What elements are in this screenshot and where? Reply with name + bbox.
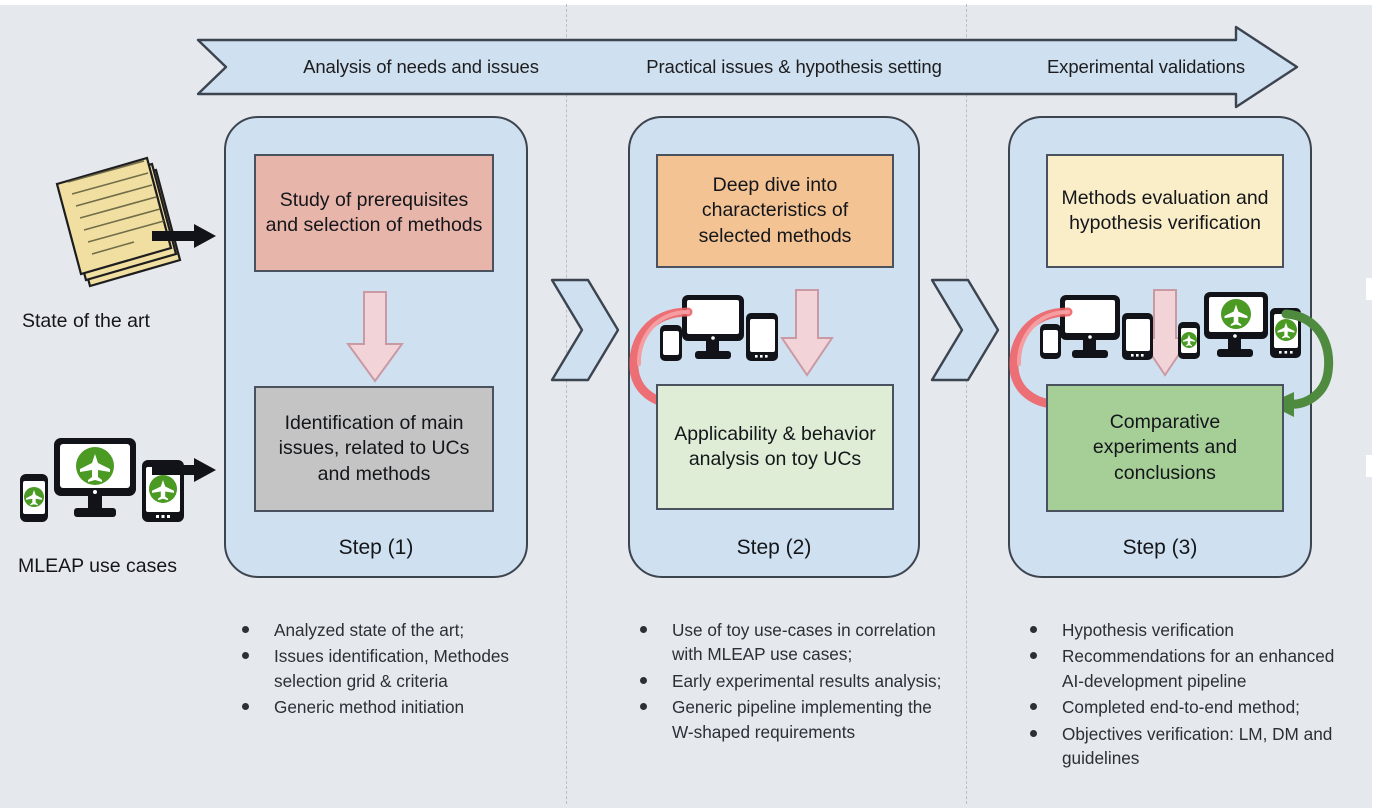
list-item: Early experimental results analysis; xyxy=(636,669,950,693)
step1-bullet-list: Analyzed state of the art; Issues identi… xyxy=(238,618,538,722)
arrow-documents-to-step1 xyxy=(152,223,218,254)
canvas-right-edge xyxy=(1372,0,1379,808)
step3-bottom-box: Comparative experiments and conclusions xyxy=(1046,384,1284,512)
column-separator-2 xyxy=(966,4,967,804)
canvas-top-edge xyxy=(0,0,1379,5)
arrow-usecases-to-step1 xyxy=(152,457,218,488)
chevron-step2-to-step3 xyxy=(928,277,1002,388)
step1-top-box: Study of prerequisites and selection of … xyxy=(254,154,494,272)
bullet-dot-icon xyxy=(242,703,249,710)
bullet-dot-icon xyxy=(640,626,647,633)
list-item: Generic method initiation xyxy=(238,695,538,719)
canvas-right-notch-upper xyxy=(1366,278,1372,300)
step1-down-arrow-icon xyxy=(344,290,406,389)
phase-label-3: Experimental validations xyxy=(1016,24,1276,110)
input-label-state-of-the-art: State of the art xyxy=(22,310,150,333)
step-panel-1[interactable]: Study of prerequisites and selection of … xyxy=(224,116,528,578)
canvas-right-notch-lower xyxy=(1366,455,1372,477)
list-item-label: Generic method initiation xyxy=(274,697,464,717)
list-item: Analyzed state of the art; xyxy=(238,618,538,642)
phase-banner: Analysis of needs and issues Practical i… xyxy=(196,24,1300,110)
list-item: Recommendations for an enhanced AI-devel… xyxy=(1026,644,1346,693)
phase-label-2: Practical issues & hypothesis setting xyxy=(578,24,1010,110)
step2-bullet-list: Use of toy use-cases in correlation with… xyxy=(636,618,950,746)
diagram-canvas: Analysis of needs and issues Practical i… xyxy=(0,0,1379,808)
bullet-dot-icon xyxy=(242,626,249,633)
chevron-step1-to-step2 xyxy=(548,277,622,388)
bullet-dot-icon xyxy=(640,677,647,684)
column-separator-1 xyxy=(566,4,567,804)
list-item-label: Completed end-to-end method; xyxy=(1062,697,1300,717)
step2-title: Step (2) xyxy=(630,536,918,560)
step3-bullet-list: Hypothesis verification Recommendations … xyxy=(1026,618,1346,773)
list-item-label: Early experimental results analysis; xyxy=(672,671,941,691)
bullet-dot-icon xyxy=(242,652,249,659)
list-item-label: Issues identification, Methodes selectio… xyxy=(274,646,509,690)
list-item: Use of toy use-cases in correlation with… xyxy=(636,618,950,667)
list-item: Objectives verification: LM, DM and guid… xyxy=(1026,722,1346,771)
list-item-label: Objectives verification: LM, DM and guid… xyxy=(1062,724,1332,768)
phase-label-1: Analysis of needs and issues xyxy=(236,24,606,110)
step-panel-2[interactable]: Deep dive into characteristics of select… xyxy=(628,116,920,578)
step1-bottom-box: Identification of main issues, related t… xyxy=(254,386,494,512)
step-panel-3[interactable]: Methods evaluation and hypothesis verifi… xyxy=(1008,116,1312,578)
bullet-dot-icon xyxy=(640,703,647,710)
list-item-label: Hypothesis verification xyxy=(1062,620,1234,640)
input-label-mleap-use-cases: MLEAP use cases xyxy=(18,555,177,578)
step2-bottom-box: Applicability & behavior analysis on toy… xyxy=(656,384,894,510)
step2-down-arrow-icon xyxy=(778,288,836,383)
step1-title: Step (1) xyxy=(226,536,526,560)
list-item-label: Analyzed state of the art; xyxy=(274,620,464,640)
list-item: Issues identification, Methodes selectio… xyxy=(238,644,538,693)
list-item-label: Use of toy use-cases in correlation with… xyxy=(672,620,936,664)
bullet-dot-icon xyxy=(1030,652,1037,659)
list-item: Hypothesis verification xyxy=(1026,618,1346,642)
step2-top-box: Deep dive into characteristics of select… xyxy=(656,154,894,268)
bullet-dot-icon xyxy=(1030,626,1037,633)
step3-title: Step (3) xyxy=(1010,536,1310,560)
list-item-label: Recommendations for an enhanced AI-devel… xyxy=(1062,646,1334,690)
step3-top-box: Methods evaluation and hypothesis verifi… xyxy=(1046,154,1284,268)
bullet-dot-icon xyxy=(1030,703,1037,710)
list-item-label: Generic pipeline implementing the W-shap… xyxy=(672,697,932,741)
list-item: Completed end-to-end method; xyxy=(1026,695,1346,719)
list-item: Generic pipeline implementing the W-shap… xyxy=(636,695,950,744)
bullet-dot-icon xyxy=(1030,730,1037,737)
